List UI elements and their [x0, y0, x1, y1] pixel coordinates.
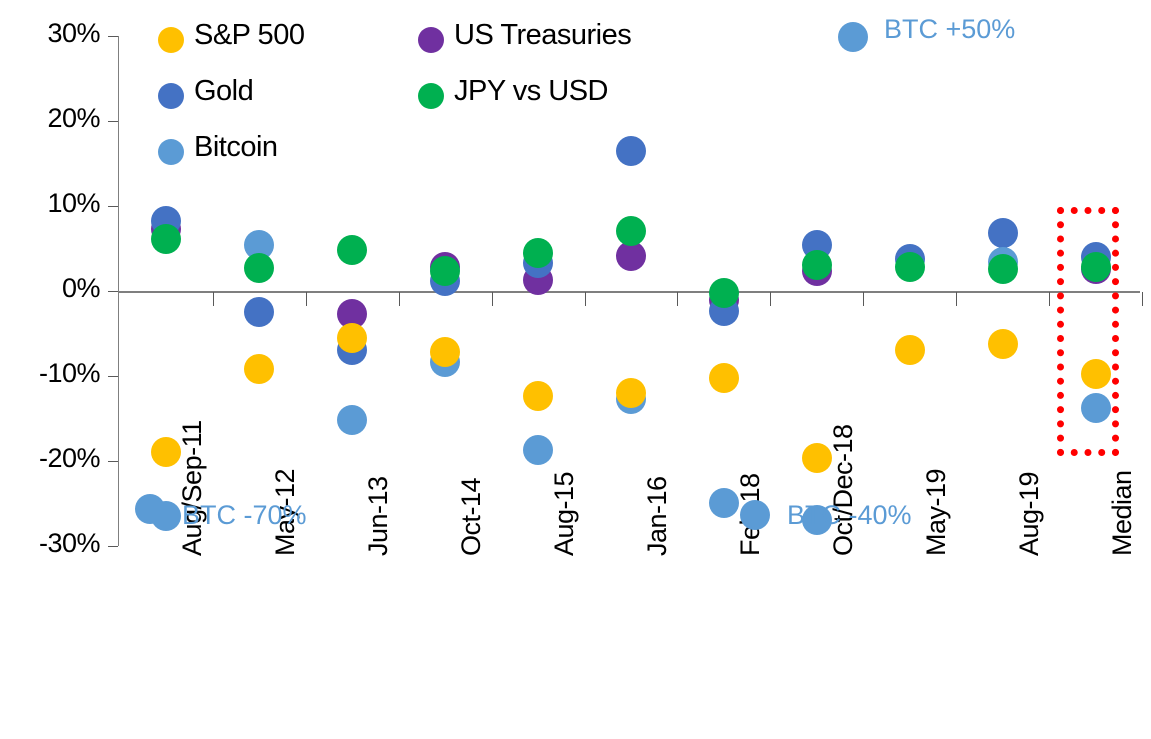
data-point: [244, 354, 274, 384]
btc-minus-40-annotation-marker: [740, 500, 770, 530]
y-axis-tick-label: -30%: [0, 528, 100, 559]
data-point: [244, 297, 274, 327]
legend-marker-bitcoin: [158, 139, 184, 165]
data-point: [616, 241, 646, 271]
data-point: [523, 381, 553, 411]
y-axis-tick-label: -10%: [0, 358, 100, 389]
x-axis-category-label: Aug/Sep-11: [177, 420, 208, 556]
data-point: [616, 216, 646, 246]
legend-label-gold: Gold: [194, 75, 253, 108]
data-point: [151, 437, 181, 467]
btc-minus-70-annotation-marker: [135, 494, 165, 524]
y-axis-tick-label: 0%: [0, 273, 100, 304]
x-axis-tick: [1142, 292, 1143, 306]
data-point: [895, 252, 925, 282]
x-axis-category-label: Aug-19: [1014, 472, 1045, 556]
data-point: [616, 136, 646, 166]
data-point: [337, 405, 367, 435]
y-axis-tick-label: 10%: [0, 188, 100, 219]
legend-label-bitcoin: Bitcoin: [194, 131, 278, 164]
x-axis-category-label: Aug-15: [549, 472, 580, 556]
y-axis-tick: [108, 291, 118, 292]
data-point: [802, 250, 832, 280]
x-axis-category-label: Median: [1107, 470, 1138, 556]
data-point: [709, 278, 739, 308]
data-point: [523, 435, 553, 465]
data-point: [709, 363, 739, 393]
data-point: [337, 323, 367, 353]
data-point: [430, 256, 460, 286]
data-point: [709, 488, 739, 518]
data-point: [988, 329, 1018, 359]
x-axis-category-label: Oct/Dec-18: [828, 424, 859, 556]
y-axis-tick: [108, 461, 118, 462]
x-axis-category-label: Jun-13: [363, 476, 394, 556]
x-axis-tick: [770, 292, 771, 306]
data-point: [895, 335, 925, 365]
data-point: [244, 253, 274, 283]
x-axis-tick: [863, 292, 864, 306]
data-point: [151, 224, 181, 254]
legend-marker-us-treasuries: [418, 27, 444, 53]
chart-container: 30%20%10%0%-10%-20%-30%Aug/Sep-11May-12J…: [0, 0, 1151, 739]
data-point: [523, 238, 553, 268]
x-axis-category-label: May-19: [921, 469, 952, 556]
legend-label-s-p-500: S&P 500: [194, 19, 304, 52]
y-axis-tick-label: -20%: [0, 443, 100, 474]
zero-baseline: [118, 291, 1140, 293]
median-highlight-box: [1057, 207, 1119, 456]
data-point: [988, 218, 1018, 248]
y-axis-tick: [108, 121, 118, 122]
btc-minus-70-annotation-label: BTC -70%: [182, 500, 307, 531]
legend-label-us-treasuries: US Treasuries: [454, 19, 631, 52]
legend-marker-gold: [158, 83, 184, 109]
y-axis-tick: [108, 206, 118, 207]
btc-plus-50-annotation-marker: [838, 22, 868, 52]
y-axis-tick-label: 30%: [0, 18, 100, 49]
btc-plus-50-annotation-label: BTC +50%: [884, 14, 1015, 45]
x-axis-tick: [306, 292, 307, 306]
x-axis-tick: [956, 292, 957, 306]
x-axis-tick: [585, 292, 586, 306]
x-axis-tick: [677, 292, 678, 306]
plot-area: 30%20%10%0%-10%-20%-30%Aug/Sep-11May-12J…: [0, 0, 1151, 739]
legend-marker-s-p-500: [158, 27, 184, 53]
legend-label-jpy-vs-usd: JPY vs USD: [454, 75, 608, 108]
x-axis-category-label: Jan-16: [642, 476, 673, 556]
btc-minus-40-annotation-label: BTC -40%: [787, 500, 912, 531]
legend-marker-jpy-vs-usd: [418, 83, 444, 109]
y-axis-tick: [108, 376, 118, 377]
data-point: [616, 378, 646, 408]
x-axis-tick: [492, 292, 493, 306]
x-axis-tick: [213, 292, 214, 306]
data-point: [337, 235, 367, 265]
data-point: [988, 254, 1018, 284]
y-axis-tick-label: 20%: [0, 103, 100, 134]
x-axis-category-label: Oct-14: [456, 478, 487, 556]
x-axis-tick: [399, 292, 400, 306]
y-axis-tick: [108, 546, 118, 547]
y-axis-tick: [108, 36, 118, 37]
x-axis-tick: [1049, 292, 1050, 306]
